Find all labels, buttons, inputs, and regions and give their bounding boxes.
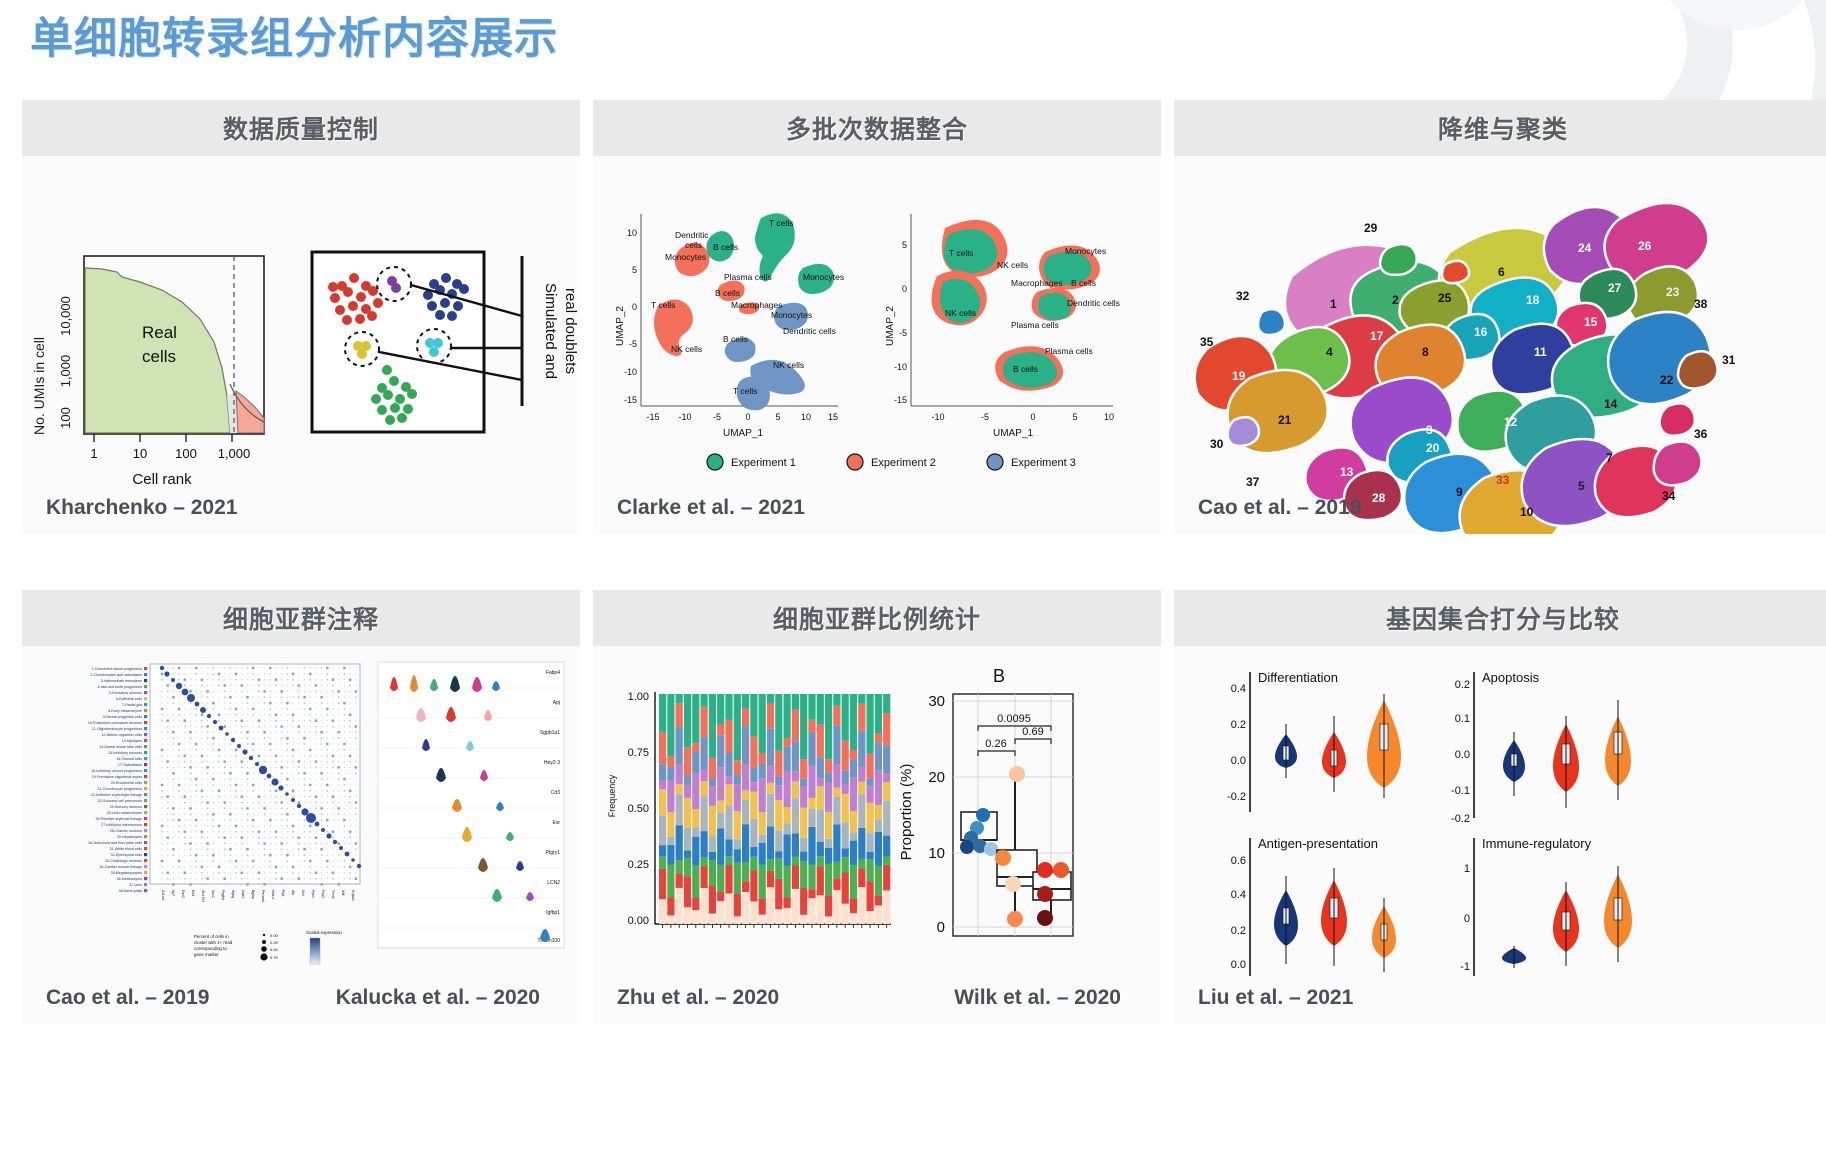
svg-text:-1: -1 xyxy=(1460,961,1470,973)
svg-text:Pecam1: Pecam1 xyxy=(261,890,265,903)
card-header-annotation: 细胞亚群注释 xyxy=(22,590,580,646)
svg-text:Plasma cells: Plasma cells xyxy=(724,272,772,282)
stacked-bar-chart: Frequency 1.000.75 0.500.250.00 xyxy=(607,691,891,928)
svg-text:Monocytes: Monocytes xyxy=(665,252,706,262)
svg-text:2-Chondrocytes and osteoblasts: 2-Chondrocytes and osteoblasts xyxy=(90,673,142,677)
svg-text:Plp1: Plp1 xyxy=(281,890,285,897)
svg-text:UMAP_1: UMAP_1 xyxy=(993,428,1033,439)
svg-text:-10: -10 xyxy=(894,362,907,372)
svg-text:7: 7 xyxy=(1606,451,1613,465)
svg-text:3: 3 xyxy=(1426,423,1433,437)
svg-text:1: 1 xyxy=(1464,863,1470,875)
svg-text:NK cells: NK cells xyxy=(773,360,804,370)
svg-text:1-Connective tissue progenitor: 1-Connective tissue progenitors xyxy=(91,667,142,671)
svg-text:19: 19 xyxy=(1232,369,1246,383)
qc-real-label: Real xyxy=(142,323,177,342)
svg-text:38: 38 xyxy=(1694,297,1708,311)
svg-text:Differentiation: Differentiation xyxy=(1258,670,1338,685)
umap-right: UMAP_2 50 -5-10-15 -10-5 0510 UMAP_1 xyxy=(885,214,1120,439)
svg-text:17-Osteoblasts: 17-Osteoblasts xyxy=(118,763,142,767)
box-group-1 xyxy=(960,808,998,856)
violin-panel-apoptosis: Apoptosis 0.20.1 0.0-0.1-0.2 xyxy=(1451,670,1631,825)
svg-text:corresponding to: corresponding to xyxy=(194,946,227,951)
svg-text:27-Inhibitory interneurons: 27-Inhibitory interneurons xyxy=(101,823,142,827)
citation-wilk: Wilk et al. – 2020 xyxy=(954,986,1121,1010)
svg-text:-10: -10 xyxy=(678,412,691,422)
svg-text:Dendritic cells: Dendritic cells xyxy=(1067,298,1120,308)
violin-panel-differentiation: Differentiation 0.40.2 0.0-0.2 xyxy=(1227,670,1401,812)
svg-text:4-Jaw and tooth progenitors: 4-Jaw and tooth progenitors xyxy=(97,685,142,689)
svg-text:38-Neutrophils: 38-Neutrophils xyxy=(119,889,143,893)
svg-text:Bglap: Bglap xyxy=(251,890,255,899)
svg-text:37: 37 xyxy=(1246,475,1260,489)
svg-text:35: 35 xyxy=(1200,335,1214,349)
svg-text:9: 9 xyxy=(1456,485,1463,499)
svg-text:14-Dorsal neural tube cells: 14-Dorsal neural tube cells xyxy=(99,745,142,749)
svg-text:4: 4 xyxy=(1326,345,1333,359)
svg-text:Plasma cells: Plasma cells xyxy=(1045,346,1093,356)
card-data-proportion: 细胞亚群比例统计 Frequency 1.000.75 0.500.250.00… xyxy=(593,590,1161,1024)
svg-text:Ptgry1: Ptgry1 xyxy=(546,850,561,856)
qc-xlabel: Cell rank xyxy=(132,471,192,488)
svg-text:Alb: Alb xyxy=(291,890,295,895)
svg-text:T cells: T cells xyxy=(769,218,793,228)
svg-text:5: 5 xyxy=(1072,412,1077,422)
svg-text:0.1: 0.1 xyxy=(1455,713,1470,725)
svg-text:37-Lens: 37-Lens xyxy=(129,883,142,887)
svg-text:11: 11 xyxy=(1534,345,1547,359)
violin-panel-antigen: Antigen-presentation 0.60.4 0.20.0 xyxy=(1231,836,1396,976)
svg-text:Percent of cells in: Percent of cells in xyxy=(194,934,229,939)
svg-text:9-Neural progenitor cells: 9-Neural progenitor cells xyxy=(103,715,142,719)
svg-text:5-Excitatory neurons: 5-Excitatory neurons xyxy=(109,691,142,695)
card-body-geneset: Differentiation 0.40.2 0.0-0.2 xyxy=(1174,646,1826,1024)
svg-text:NK cells: NK cells xyxy=(671,344,702,354)
card-data-cluster: 降维与聚类 xyxy=(1174,100,1826,534)
qc-ylabel: No. UMIs in cell xyxy=(31,337,47,435)
svg-text:6-Epithelial cells: 6-Epithelial cells xyxy=(116,697,142,701)
svg-text:Foxj1: Foxj1 xyxy=(321,890,325,898)
card-body-qc: No. UMIs in cell 10,000 1,000 100 Real c… xyxy=(22,156,580,534)
pvalue-2: 0.26 xyxy=(985,738,1006,750)
svg-text:cluster with 1+ read: cluster with 1+ read xyxy=(194,940,233,945)
svg-text:16: 16 xyxy=(1474,325,1488,339)
card-header-proportion: 细胞亚群比例统计 xyxy=(593,590,1161,646)
svg-text:0: 0 xyxy=(902,284,907,294)
dotplot-color-legend: Scaled expression xyxy=(306,930,342,964)
svg-text:19-Premature oligodendrocytes: 19-Premature oligodendrocytes xyxy=(92,775,142,779)
svg-text:Mitf: Mitf xyxy=(341,890,345,896)
svg-text:Hey2-3: Hey2-3 xyxy=(544,760,560,766)
svg-text:0.6: 0.6 xyxy=(1231,855,1246,867)
card-header-qc: 数据质量控制 xyxy=(22,100,580,156)
svg-text:27: 27 xyxy=(1608,281,1622,295)
page-title: 单细胞转录组分析内容展示 xyxy=(30,4,558,66)
svg-text:20: 20 xyxy=(928,769,945,786)
svg-text:0.0: 0.0 xyxy=(1231,755,1246,767)
citation-clarke: Clarke et al. – 2021 xyxy=(617,496,805,520)
svg-text:Sgpb1a1: Sgpb1a1 xyxy=(540,730,560,736)
svg-text:21: 21 xyxy=(1278,413,1292,427)
svg-text:0: 0 xyxy=(632,302,637,312)
svg-text:-5: -5 xyxy=(713,412,721,422)
svg-text:15: 15 xyxy=(1584,315,1598,329)
card-body-cluster: 12 34 56 78 910 1112 1314 1516 1718 1920… xyxy=(1174,156,1826,534)
svg-text:16-Stromal cells: 16-Stromal cells xyxy=(116,757,142,761)
svg-text:-5: -5 xyxy=(629,339,637,349)
svg-text:5: 5 xyxy=(902,240,907,250)
card-data-qc: 数据质量控制 No. UMIs in cell 10,000 1,000 100… xyxy=(22,100,580,534)
svg-text:29: 29 xyxy=(1364,221,1378,235)
svg-text:6: 6 xyxy=(1498,265,1505,279)
svg-text:7-Radial glia: 7-Radial glia xyxy=(122,703,142,707)
svg-text:36-Melanocytes: 36-Melanocytes xyxy=(117,877,143,881)
svg-text:24-Sensory neurons: 24-Sensory neurons xyxy=(110,805,143,809)
svg-text:33-Cholinergic neurons: 33-Cholinergic neurons xyxy=(105,859,142,863)
svg-text:23-Schwann cell precursors: 23-Schwann cell precursors xyxy=(98,799,143,803)
svg-text:26: 26 xyxy=(1638,239,1652,253)
svg-text:Slc17a7: Slc17a7 xyxy=(201,890,205,902)
svg-text:23: 23 xyxy=(1666,285,1680,299)
card-body-proportion: Frequency 1.000.75 0.500.250.00 B Propor… xyxy=(593,646,1161,1024)
card-data-integration: 多批次数据整合 UMAP_2 1050 -5-10-15 -15-10-5 05… xyxy=(593,100,1161,534)
svg-text:Shh: Shh xyxy=(301,890,305,896)
svg-text:22-Definitive erythrocyte line: 22-Definitive erythrocyte lineage xyxy=(91,793,142,797)
svg-text:18-Inhibitory neuron progenito: 18-Inhibitory neuron progenitors xyxy=(91,769,142,773)
svg-text:0.0: 0.0 xyxy=(1231,959,1246,971)
svg-text:-0.2: -0.2 xyxy=(1227,791,1246,803)
svg-text:NK cells: NK cells xyxy=(997,260,1028,270)
svg-text:28-Granule neurons: 28-Granule neurons xyxy=(110,829,142,833)
svg-text:Monocytes: Monocytes xyxy=(771,310,812,320)
svg-text:32: 32 xyxy=(1236,289,1250,303)
svg-text:Immune-regulatory: Immune-regulatory xyxy=(1482,836,1592,851)
svg-text:1.00: 1.00 xyxy=(628,691,649,703)
svg-text:T cells: T cells xyxy=(733,386,757,396)
geneset-figure: Differentiation 0.40.2 0.0-0.2 xyxy=(1174,646,1826,1024)
citation-zhu: Zhu et al. – 2020 xyxy=(617,986,779,1010)
svg-text:10,000: 10,000 xyxy=(58,296,73,336)
svg-text:Esr: Esr xyxy=(553,820,561,826)
citation-cao-2019-annotation: Cao et al. – 2019 xyxy=(46,986,209,1010)
svg-text:10-Postmitotic premature neuro: 10-Postmitotic premature neurons xyxy=(88,721,142,725)
svg-text:-10: -10 xyxy=(624,367,637,377)
svg-text:Ptprc: Ptprc xyxy=(311,890,315,898)
svg-text:13: 13 xyxy=(1340,465,1354,479)
svg-text:33: 33 xyxy=(1496,473,1510,487)
svg-text:31: 31 xyxy=(1722,353,1736,367)
svg-text:10: 10 xyxy=(1520,505,1534,519)
svg-text:13-Myocytes: 13-Myocytes xyxy=(122,739,143,743)
svg-text:2: 2 xyxy=(1392,293,1399,307)
svg-text:UMAP_2: UMAP_2 xyxy=(885,306,896,346)
svg-text:Experiment 3: Experiment 3 xyxy=(1011,457,1076,469)
svg-text:T cells: T cells xyxy=(949,248,973,258)
svg-text:Macrophages: Macrophages xyxy=(731,300,783,310)
svg-text:30: 30 xyxy=(1210,437,1224,451)
svg-text:1,000: 1,000 xyxy=(218,446,251,461)
svg-text:Cryba1: Cryba1 xyxy=(351,890,355,901)
svg-text:25-Limb mesenchyme: 25-Limb mesenchyme xyxy=(107,811,142,815)
svg-text:T cells: T cells xyxy=(651,300,675,310)
svg-text:Proportion (%): Proportion (%) xyxy=(898,764,915,861)
dotplot-row-labels: 1-Connective tissue progenitors 2-Chondr… xyxy=(88,667,142,893)
svg-text:Dendritic cells: Dendritic cells xyxy=(783,326,836,336)
svg-text:B cells: B cells xyxy=(1071,278,1096,288)
svg-text:22: 22 xyxy=(1660,373,1674,387)
svg-text:21-Chondrocyte progenitors: 21-Chondrocyte progenitors xyxy=(97,787,142,791)
svg-text:Apoptosis: Apoptosis xyxy=(1482,670,1540,685)
svg-text:0: 0 xyxy=(745,412,750,422)
svg-text:30-Notochord and floor plate c: 30-Notochord and floor plate cells xyxy=(88,841,142,845)
svg-text:100: 100 xyxy=(175,446,197,461)
cluster-tsne-figure: 12 34 56 78 910 1112 1314 1516 1718 1920… xyxy=(1174,156,1826,534)
svg-text:3-Intermediate mesoderm: 3-Intermediate mesoderm xyxy=(101,679,142,683)
svg-text:Myog: Myog xyxy=(231,890,235,898)
svg-text:LCN2: LCN2 xyxy=(547,880,560,886)
svg-text:15-Inhibitory neurons: 15-Inhibitory neurons xyxy=(108,751,142,755)
svg-text:0.2: 0.2 xyxy=(1455,679,1470,691)
svg-text:5: 5 xyxy=(632,265,637,275)
svg-text:18: 18 xyxy=(1526,293,1540,307)
svg-text:0.25: 0.25 xyxy=(270,940,279,945)
svg-text:0.50: 0.50 xyxy=(628,803,649,815)
svg-text:UMAP_2: UMAP_2 xyxy=(615,306,626,346)
svg-text:36: 36 xyxy=(1694,427,1708,441)
svg-text:1: 1 xyxy=(90,446,97,461)
svg-text:-15: -15 xyxy=(646,412,659,422)
card-body-integration: UMAP_2 1050 -5-10-15 -15-10-5 051015 UMA… xyxy=(593,156,1161,534)
svg-text:24: 24 xyxy=(1578,241,1592,255)
svg-text:8-Early mesenchyme: 8-Early mesenchyme xyxy=(108,709,142,713)
svg-text:0.2: 0.2 xyxy=(1231,925,1246,937)
svg-text:B cells: B cells xyxy=(713,242,738,252)
svg-text:0.00: 0.00 xyxy=(270,933,279,938)
svg-text:-5: -5 xyxy=(899,328,907,338)
svg-text:Tnnt2: Tnnt2 xyxy=(331,890,335,899)
annotation-figure: 1-Connective tissue progenitors 2-Chondr… xyxy=(22,646,580,1024)
svg-text:12: 12 xyxy=(1504,415,1518,429)
svg-text:35-Megakaryocytes: 35-Megakaryocytes xyxy=(111,871,143,875)
svg-text:100: 100 xyxy=(58,407,73,429)
svg-text:34-Cardiac muscle lineage: 34-Cardiac muscle lineage xyxy=(99,865,142,869)
svg-text:Fabp4: Fabp4 xyxy=(546,670,560,676)
svg-text:Sox2: Sox2 xyxy=(211,890,215,898)
svg-text:0.75: 0.75 xyxy=(270,955,279,960)
svg-text:NK cells: NK cells xyxy=(945,308,976,318)
svg-text:0.0: 0.0 xyxy=(1455,749,1470,761)
svg-text:10: 10 xyxy=(928,845,945,862)
citation-cao-2019-cluster: Cao et al. – 2019 xyxy=(1198,496,1361,520)
dotplot-row-swatches xyxy=(144,667,147,892)
svg-text:0.75: 0.75 xyxy=(628,747,649,759)
svg-text:Pdgfra: Pdgfra xyxy=(221,890,225,900)
row-gap xyxy=(22,534,1826,590)
svg-text:30: 30 xyxy=(928,693,945,710)
svg-text:10: 10 xyxy=(133,446,147,461)
svg-text:gene marker: gene marker xyxy=(194,952,219,957)
svg-text:0.2: 0.2 xyxy=(1231,719,1246,731)
svg-text:cells: cells xyxy=(142,347,176,366)
svg-text:Plasma cells: Plasma cells xyxy=(1011,320,1059,330)
svg-text:Apj: Apj xyxy=(553,700,560,706)
svg-text:Sp7: Sp7 xyxy=(171,890,175,896)
svg-text:20: 20 xyxy=(1426,441,1440,455)
svg-text:0.4: 0.4 xyxy=(1231,889,1246,901)
card-body-annotation: 1-Connective tissue progenitors 2-Chondr… xyxy=(22,646,580,1024)
svg-text:UMAP_1: UMAP_1 xyxy=(723,428,763,439)
umap-left: UMAP_2 1050 -5-10-15 -15-10-5 051015 UMA… xyxy=(615,213,844,439)
svg-text:B cells: B cells xyxy=(715,288,740,298)
svg-text:0.50: 0.50 xyxy=(270,947,279,952)
svg-text:Experiment 1: Experiment 1 xyxy=(731,457,796,469)
pvalue-1: 0.0095 xyxy=(997,713,1031,725)
svg-text:8: 8 xyxy=(1422,345,1429,359)
svg-text:26-Primitive erythroid lineage: 26-Primitive erythroid lineage xyxy=(95,817,142,821)
box-group-3 xyxy=(1033,862,1071,926)
svg-text:10: 10 xyxy=(627,228,637,238)
svg-text:Frequency: Frequency xyxy=(607,774,617,817)
svg-text:29-Hepatocytes: 29-Hepatocytes xyxy=(117,835,142,839)
svg-text:1: 1 xyxy=(1330,297,1337,311)
card-header-integration: 多批次数据整合 xyxy=(593,100,1161,156)
svg-text:14: 14 xyxy=(1604,397,1618,411)
svg-text:0: 0 xyxy=(1030,412,1035,422)
card-data-annotation: 细胞亚群注释 1-Connective tissue progenitors 2… xyxy=(22,590,580,1024)
svg-text:0.00: 0.00 xyxy=(628,915,649,927)
svg-text:1,000: 1,000 xyxy=(58,355,73,388)
violin-stack-panel: Fabp4 Apj Sgpb1a1 Hey2-3 Cd3 Esr Ptgry1 … xyxy=(378,662,564,948)
doublet-annotation: Simulated and xyxy=(542,283,559,379)
svg-text:B cells: B cells xyxy=(723,334,748,344)
svg-text:-5: -5 xyxy=(981,412,989,422)
svg-text:cells: cells xyxy=(685,240,702,250)
card-grid: 数据质量控制 No. UMIs in cell 10,000 1,000 100… xyxy=(22,100,1806,1024)
svg-text:Experiment 2: Experiment 2 xyxy=(871,457,936,469)
svg-text:10: 10 xyxy=(801,412,811,422)
svg-text:Gad1: Gad1 xyxy=(241,890,245,898)
svg-text:-0.1: -0.1 xyxy=(1451,785,1470,797)
svg-text:-15: -15 xyxy=(624,395,637,405)
svg-text:31-White blood cells: 31-White blood cells xyxy=(110,847,143,851)
svg-text:0.4: 0.4 xyxy=(1231,683,1246,695)
citation-kalucka: Kalucka et al. – 2020 xyxy=(336,986,540,1010)
svg-text:Krt8: Krt8 xyxy=(191,890,195,896)
qc-figure: No. UMIs in cell 10,000 1,000 100 Real c… xyxy=(22,156,580,534)
citation-liu: Liu et al. – 2021 xyxy=(1198,986,1353,1010)
svg-text:real doublets: real doublets xyxy=(562,288,579,374)
svg-text:0: 0 xyxy=(1464,913,1470,925)
svg-text:Igfbp1: Igfbp1 xyxy=(546,910,560,916)
svg-text:0: 0 xyxy=(937,919,945,936)
svg-text:Monocytes: Monocytes xyxy=(803,272,844,282)
svg-text:B cells: B cells xyxy=(1013,364,1038,374)
svg-text:-0.2: -0.2 xyxy=(1451,813,1470,825)
boxplot-title: B xyxy=(993,666,1005,686)
svg-text:12-Isthmic organizer cells: 12-Isthmic organizer cells xyxy=(101,733,142,737)
svg-text:10: 10 xyxy=(1104,412,1114,422)
card-header-geneset: 基因集合打分与比较 xyxy=(1174,590,1826,646)
card-data-geneset: 基因集合打分与比较 Differentiation 0.40.2 0.0-0.2 xyxy=(1174,590,1826,1024)
svg-text:5: 5 xyxy=(1578,479,1585,493)
integration-legend: Experiment 1 Experiment 2 Experiment 3 xyxy=(707,454,1076,470)
svg-text:34: 34 xyxy=(1662,489,1676,503)
svg-text:-15: -15 xyxy=(894,395,907,405)
svg-text:25: 25 xyxy=(1438,291,1452,305)
svg-text:28: 28 xyxy=(1372,491,1386,505)
svg-text:15: 15 xyxy=(828,412,838,422)
svg-text:11-Oligodendrocyte progenitors: 11-Oligodendrocyte progenitors xyxy=(92,727,142,731)
proportion-figure: Frequency 1.000.75 0.500.250.00 B Propor… xyxy=(593,646,1161,1024)
svg-text:17: 17 xyxy=(1370,329,1384,343)
svg-text:Cd3: Cd3 xyxy=(551,790,560,796)
box-group-2 xyxy=(995,766,1037,927)
dotplot-col-labels: Col1a1 Sp7 Pax2 Krt8 Slc17a7 Sox2 Pdgfra… xyxy=(161,890,355,903)
svg-text:Monocytes: Monocytes xyxy=(1065,246,1106,256)
svg-text:Pax2: Pax2 xyxy=(181,890,185,898)
svg-text:32-Ependymal cells: 32-Ependymal cells xyxy=(111,853,143,857)
svg-text:-10: -10 xyxy=(931,412,944,422)
card-header-cluster: 降维与聚类 xyxy=(1174,100,1826,156)
svg-text:Antigen-presentation: Antigen-presentation xyxy=(1258,836,1378,851)
svg-text:20-Endothelial cells: 20-Endothelial cells xyxy=(111,781,142,785)
svg-text:Dendritic: Dendritic xyxy=(675,230,709,240)
boxplot-chart: B Proportion (%) 3020 100 xyxy=(898,666,1073,936)
svg-text:Macrophages: Macrophages xyxy=(1011,278,1063,288)
dotplot-size-legend: Percent of cells in cluster with 1+ read… xyxy=(194,933,279,961)
svg-text:Col1a1: Col1a1 xyxy=(161,890,165,901)
violin-panel-immune: Immune-regulatory 10-1 xyxy=(1460,836,1632,976)
svg-text:0.25: 0.25 xyxy=(628,859,649,871)
svg-text:5: 5 xyxy=(775,412,780,422)
citation-kharchenko: Kharchenko – 2021 xyxy=(46,496,237,520)
svg-text:Hba-x: Hba-x xyxy=(271,890,275,899)
integration-figure: UMAP_2 1050 -5-10-15 -15-10-5 051015 UMA… xyxy=(593,156,1161,534)
svg-text:Scaled expression: Scaled expression xyxy=(306,930,342,935)
pvalue-3: 0.69 xyxy=(1022,726,1043,738)
